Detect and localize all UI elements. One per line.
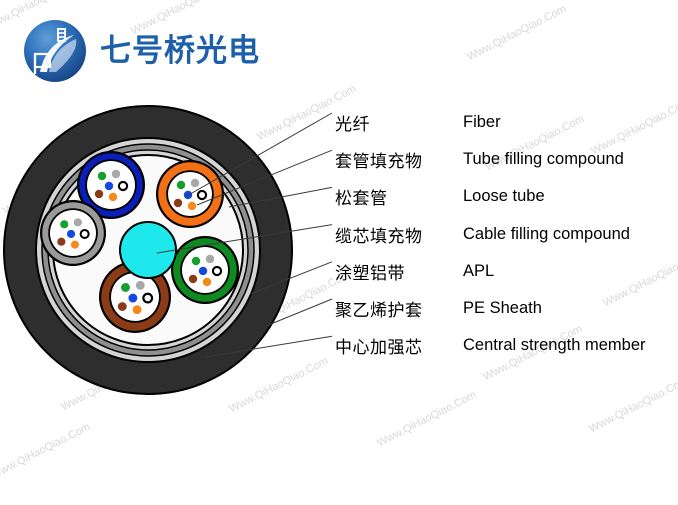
bridge-globe-logo-icon xyxy=(18,14,92,88)
fiber-brown xyxy=(174,199,182,207)
label-cn: 光纤 xyxy=(335,110,463,135)
fiber-white-ring xyxy=(143,294,152,303)
fiber-white-ring xyxy=(119,182,127,190)
fiber-brown xyxy=(57,238,65,246)
loose-tube-gray xyxy=(40,200,106,266)
label-row: 套管填充物 Tube filling compound xyxy=(335,141,678,178)
fiber-slate xyxy=(206,255,214,263)
fiber-slate xyxy=(112,170,120,178)
label-row: 涂塑铝带 APL xyxy=(335,253,678,290)
fiber-orange xyxy=(71,241,79,249)
label-row: 松套管 Loose tube xyxy=(335,178,678,215)
label-en: Loose tube xyxy=(463,187,545,206)
cable-diagram-page: Www.QiHaoQiao.ComWww.QiHaoQiao.ComWww.Qi… xyxy=(0,0,678,505)
fiber-white-ring xyxy=(213,267,221,275)
fiber-slate xyxy=(136,281,145,290)
fiber-blue xyxy=(105,182,113,190)
label-cn: 套管填充物 xyxy=(335,147,463,172)
fiber-orange xyxy=(133,305,142,314)
label-list: 光纤 Fiber 套管填充物 Tube filling compound 松套管… xyxy=(335,104,678,364)
label-row: 中心加强芯 Central strength member xyxy=(335,327,678,364)
label-en: Central strength member xyxy=(463,336,646,355)
fiber-green xyxy=(98,172,106,180)
fiber-green xyxy=(60,220,68,228)
fiber-brown xyxy=(95,190,103,198)
fiber-blue xyxy=(199,267,207,275)
fiber-brown xyxy=(189,275,197,283)
central-strength-member xyxy=(120,222,176,278)
fiber-blue xyxy=(128,294,137,303)
fiber-slate xyxy=(74,218,82,226)
label-cn: 聚乙烯护套 xyxy=(335,296,463,321)
brand-header: 七号桥光电 xyxy=(18,12,260,90)
label-cn: 缆芯填充物 xyxy=(335,222,463,247)
brand-name: 七号桥光电 xyxy=(100,36,260,67)
label-cn: 中心加强芯 xyxy=(335,333,463,358)
label-en: Tube filling compound xyxy=(463,150,624,169)
label-row: 光纤 Fiber xyxy=(335,104,678,141)
fiber-green xyxy=(121,283,130,292)
label-en: PE Sheath xyxy=(463,299,542,318)
fiber-green xyxy=(192,257,200,265)
fiber-blue xyxy=(67,230,75,238)
label-en: Cable filling compound xyxy=(463,225,630,244)
watermark-text: Www.QiHaoQiao.Com xyxy=(465,3,568,63)
fiber-brown xyxy=(118,302,127,311)
fiber-orange xyxy=(203,278,211,286)
fiber-white-ring xyxy=(81,230,89,238)
loose-tube-green xyxy=(171,236,239,304)
fiber-slate xyxy=(191,179,199,187)
label-en: Fiber xyxy=(463,113,501,132)
fiber-orange xyxy=(109,193,117,201)
fiber-orange xyxy=(188,202,196,210)
fiber-white-ring xyxy=(198,191,206,199)
watermark-text: Www.QiHaoQiao.Com xyxy=(0,421,92,481)
label-en: APL xyxy=(463,262,494,281)
label-cn: 涂塑铝带 xyxy=(335,259,463,284)
label-row: 缆芯填充物 Cable filling compound xyxy=(335,216,678,253)
label-row: 聚乙烯护套 PE Sheath xyxy=(335,290,678,327)
label-cn: 松套管 xyxy=(335,184,463,209)
fiber-green xyxy=(177,181,185,189)
